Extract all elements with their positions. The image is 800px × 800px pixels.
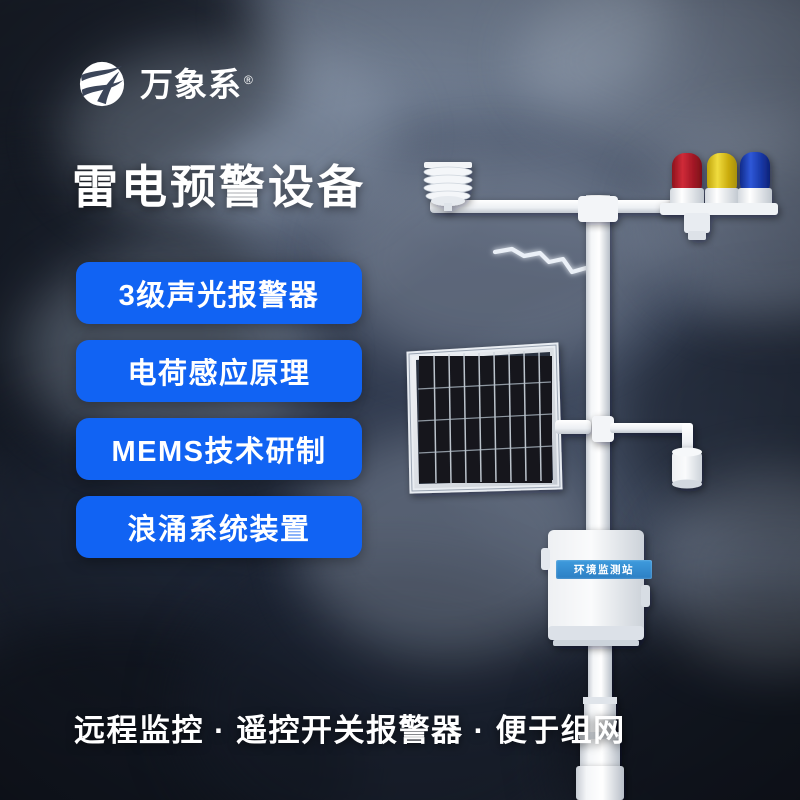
device-label-plate: 环境监测站 xyxy=(556,560,652,579)
poster-canvas: 环境监测站 万象系® 雷电预警设备 3级声光报警器 电荷感应原理 MEMS技术研… xyxy=(0,0,800,800)
swoosh-sphere-logo-icon xyxy=(78,60,126,108)
feature-list: 3级声光报警器 电荷感应原理 MEMS技术研制 浪涌系统装置 xyxy=(76,262,362,558)
brand-logo: 万象系® xyxy=(78,60,254,108)
registered-mark: ® xyxy=(244,73,254,87)
feature-pill-4[interactable]: 浪涌系统装置 xyxy=(76,496,362,558)
feature-pill-2[interactable]: 电荷感应原理 xyxy=(76,340,362,402)
feature-pill-3[interactable]: MEMS技术研制 xyxy=(76,418,362,480)
footer-caption: 远程监控 · 遥控开关报警器 · 便于组网 xyxy=(74,705,626,750)
page-title: 雷电预警设备 xyxy=(72,164,366,210)
brand-name: 万象系® xyxy=(140,68,254,101)
feature-pill-1[interactable]: 3级声光报警器 xyxy=(76,262,362,324)
brand-name-text: 万象系 xyxy=(140,66,242,103)
